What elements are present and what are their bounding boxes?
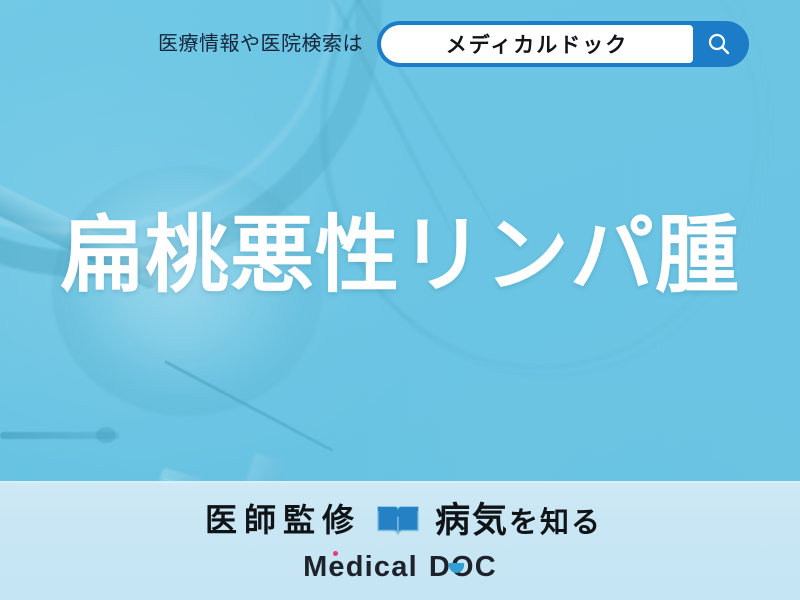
search-button[interactable] — [693, 25, 745, 63]
logo-medical-text: Medical — [303, 553, 418, 582]
open-book-icon — [375, 501, 421, 539]
header-label: 医療情報や医院検索は — [158, 34, 363, 54]
search-icon — [706, 31, 732, 57]
logo-doc-text: DOC — [429, 553, 497, 582]
know-disease-label: 病気 を知る — [435, 503, 602, 538]
site-logo[interactable]: Medical DOC — [0, 553, 800, 582]
supervision-label: 医師監修 — [198, 504, 361, 536]
poster-canvas: 医療情報や医院検索は メディカルドック 扁桃悪性リンパ腫 医師監修 — [0, 0, 800, 600]
header-bar: 医療情報や医院検索は メディカルドック — [0, 0, 800, 88]
footer-tagline: 医師監修 病気 を知る — [0, 491, 800, 549]
search-box[interactable]: メディカルドック — [377, 21, 749, 67]
know-disease-main: 病気 — [435, 503, 509, 538]
search-input[interactable]: メディカルドック — [381, 25, 693, 63]
know-disease-suffix: を知る — [509, 509, 602, 538]
logo-medical-label: Medical — [303, 551, 418, 583]
page-title: 扁桃悪性リンパ腫 — [0, 213, 800, 297]
